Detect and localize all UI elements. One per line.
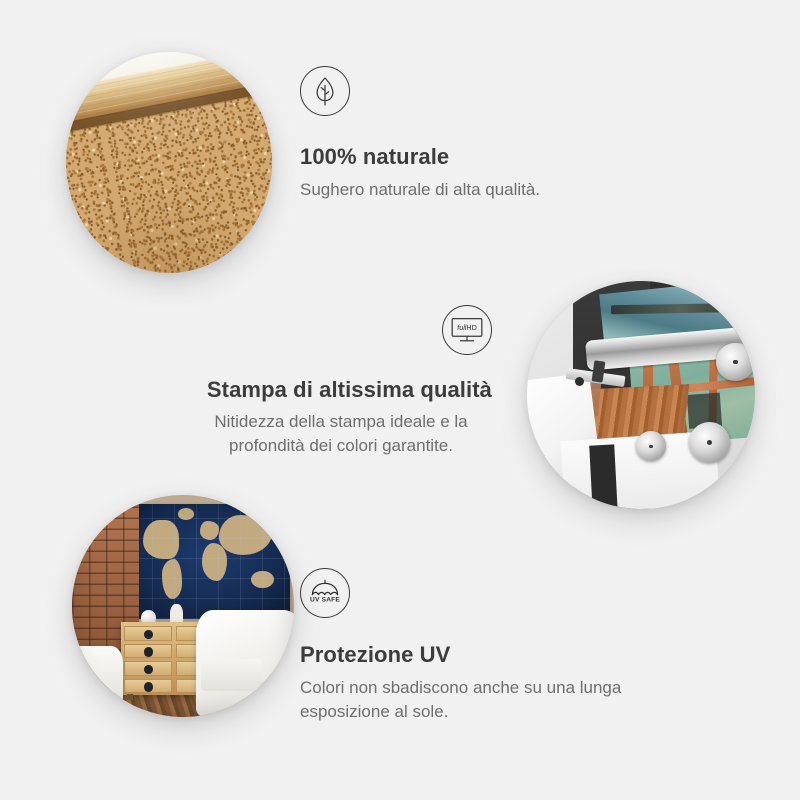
- room-vignette: [72, 495, 294, 717]
- printer-wheel-bottom-right: [689, 422, 730, 463]
- leaf-icon: [300, 66, 350, 116]
- interior-world-map-photo: [72, 495, 294, 717]
- cork-shading: [66, 52, 272, 273]
- feature-block-uv: UV SAFE Protezione UV Colori non sbadisc…: [300, 568, 660, 723]
- printer-dark-strip: [589, 445, 618, 509]
- printer-wheel-bottom-middle: [636, 431, 666, 461]
- feature-block-natural: 100% naturale Sughero naturale di alta q…: [300, 66, 600, 202]
- feature-block-print: fullHD Stampa di altissima qualità Nitid…: [190, 305, 492, 457]
- promo-banner: 100% naturale Sughero naturale di alta q…: [0, 0, 800, 800]
- fullhd-monitor-icon: fullHD: [442, 305, 492, 355]
- feature-description: Colori non sbadiscono anche su una lunga…: [300, 676, 660, 722]
- feature-title: Stampa di altissima qualità: [190, 377, 492, 403]
- feature-description: Nitidezza della stampa ideale e la profo…: [190, 410, 492, 456]
- svg-text:fullHD: fullHD: [457, 323, 477, 332]
- feature-description: Sughero naturale di alta qualità.: [300, 178, 600, 201]
- printer-knob-small: [575, 377, 584, 386]
- printer-wheel-top-right: [716, 343, 755, 382]
- feature-title: 100% naturale: [300, 144, 600, 170]
- printing-machine-photo: [527, 281, 755, 509]
- cork-texture-photo: [66, 52, 272, 273]
- svg-text:UV SAFE: UV SAFE: [310, 597, 340, 604]
- feature-title: Protezione UV: [300, 642, 660, 668]
- uv-safe-umbrella-icon: UV SAFE: [300, 568, 350, 618]
